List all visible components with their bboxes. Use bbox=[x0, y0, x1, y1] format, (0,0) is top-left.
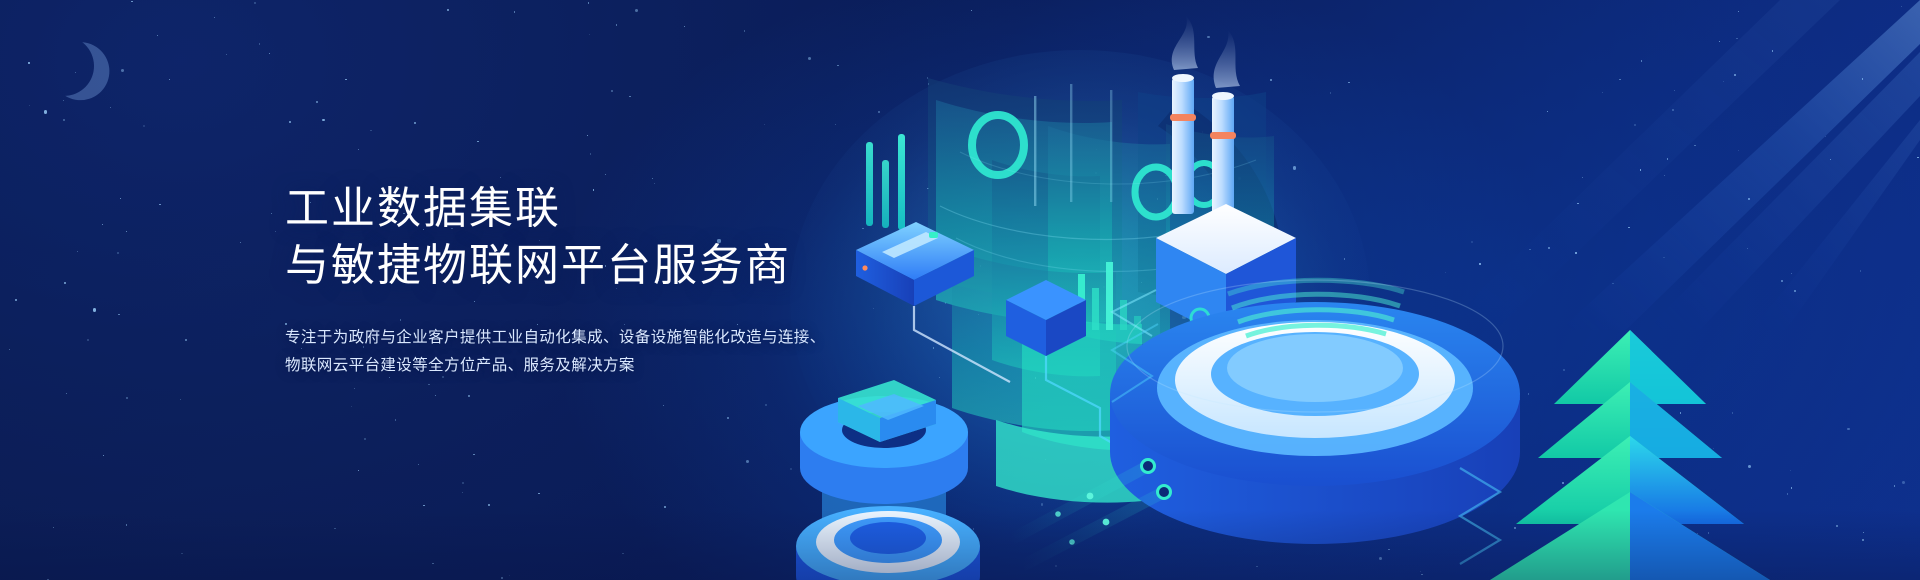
star bbox=[432, 563, 433, 564]
star bbox=[185, 339, 187, 341]
star bbox=[214, 17, 215, 18]
star bbox=[414, 122, 415, 123]
star bbox=[275, 231, 276, 232]
chimney-ring-1 bbox=[1170, 114, 1196, 121]
green-pyramid bbox=[1490, 330, 1770, 580]
chimney-ring-2 bbox=[1210, 132, 1236, 139]
star bbox=[289, 121, 291, 123]
star bbox=[370, 130, 371, 131]
star bbox=[63, 100, 64, 101]
star bbox=[29, 105, 30, 106]
star bbox=[110, 107, 111, 108]
star bbox=[611, 90, 613, 92]
star bbox=[226, 54, 227, 55]
star bbox=[316, 101, 318, 103]
smoke-plume-2 bbox=[1214, 30, 1240, 88]
star bbox=[102, 224, 103, 225]
star bbox=[9, 349, 10, 350]
star bbox=[488, 504, 490, 506]
star bbox=[354, 388, 355, 389]
star bbox=[351, 406, 352, 407]
star bbox=[169, 79, 170, 80]
star bbox=[629, 96, 630, 97]
star bbox=[727, 417, 729, 419]
star bbox=[364, 438, 366, 440]
star bbox=[473, 454, 474, 455]
star bbox=[435, 395, 436, 396]
star bbox=[120, 198, 121, 199]
star bbox=[180, 399, 181, 400]
star bbox=[254, 2, 255, 3]
star bbox=[63, 119, 65, 121]
star bbox=[462, 482, 464, 484]
star bbox=[462, 492, 463, 493]
star bbox=[93, 308, 96, 311]
star bbox=[423, 505, 424, 506]
star bbox=[269, 53, 270, 54]
smokestack-2 bbox=[1212, 96, 1234, 216]
star bbox=[28, 62, 29, 63]
crescent-moon-icon bbox=[26, 28, 102, 104]
star bbox=[15, 299, 16, 300]
star bbox=[588, 2, 589, 3]
star bbox=[66, 393, 67, 394]
star bbox=[259, 43, 260, 44]
star bbox=[44, 110, 47, 113]
star bbox=[622, 553, 623, 554]
star bbox=[121, 69, 124, 72]
star bbox=[746, 460, 749, 463]
star bbox=[428, 384, 429, 385]
star bbox=[616, 24, 617, 25]
star bbox=[635, 9, 638, 12]
hero-banner: 工业数据集联 与敏捷物联网平台服务商 专注于为政府与企业客户提供工业自动化集成、… bbox=[0, 0, 1920, 580]
star bbox=[538, 493, 539, 494]
star bbox=[118, 314, 119, 315]
star bbox=[77, 251, 78, 252]
star bbox=[53, 527, 54, 528]
star bbox=[271, 213, 272, 214]
star bbox=[358, 470, 359, 471]
star bbox=[157, 35, 158, 36]
star bbox=[181, 553, 182, 554]
smoke-plume-1 bbox=[1172, 16, 1198, 70]
star bbox=[131, 1, 132, 2]
star bbox=[117, 252, 119, 254]
star bbox=[663, 405, 664, 406]
star bbox=[126, 524, 127, 525]
star bbox=[589, 34, 590, 35]
star bbox=[358, 149, 359, 150]
star bbox=[468, 395, 469, 396]
star bbox=[159, 204, 160, 205]
isometric-iot-illustration bbox=[760, 0, 1920, 580]
star bbox=[447, 9, 448, 10]
star bbox=[418, 464, 419, 465]
star bbox=[514, 11, 515, 12]
star bbox=[587, 135, 588, 136]
star bbox=[477, 141, 478, 142]
star bbox=[684, 26, 685, 27]
star bbox=[345, 79, 346, 80]
star bbox=[322, 119, 324, 121]
star bbox=[334, 528, 335, 529]
star bbox=[509, 575, 510, 576]
star bbox=[240, 242, 241, 243]
star bbox=[664, 506, 666, 508]
star bbox=[744, 30, 745, 31]
smokestack-1 bbox=[1172, 78, 1194, 214]
star bbox=[126, 231, 127, 232]
star bbox=[395, 419, 396, 420]
star bbox=[143, 125, 145, 127]
star bbox=[87, 339, 89, 341]
star bbox=[126, 397, 128, 399]
star bbox=[64, 282, 65, 283]
star bbox=[501, 577, 502, 578]
star bbox=[103, 455, 104, 456]
